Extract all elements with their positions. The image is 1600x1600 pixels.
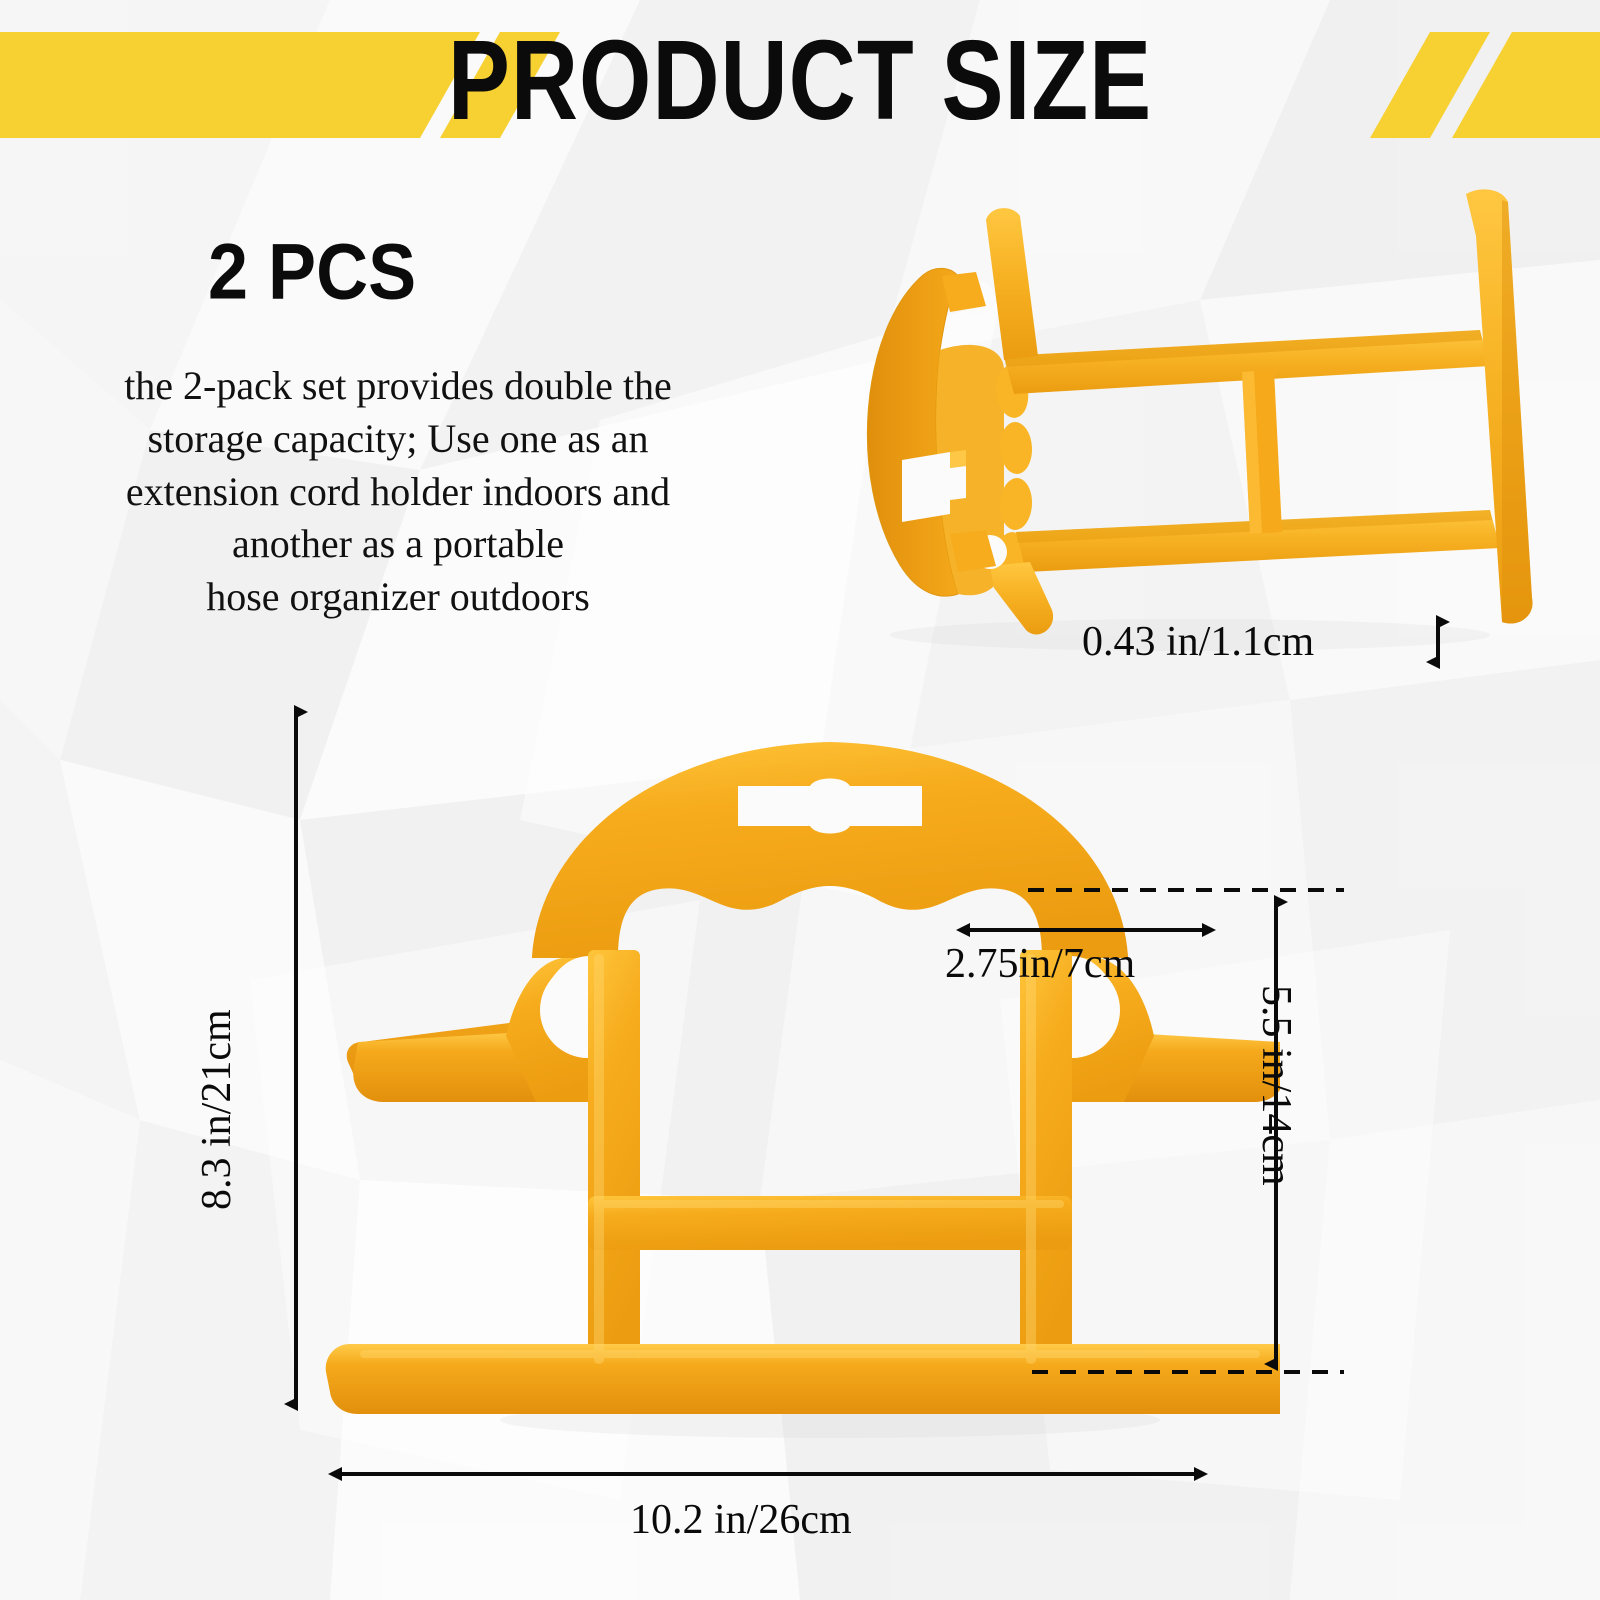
width-dimension-label: 10.2 in/26cm bbox=[630, 1496, 852, 1544]
description-line: extension cord holder indoors and bbox=[48, 466, 748, 519]
thickness-dimension-label: 0.43 in/1.1cm bbox=[1082, 618, 1314, 666]
copy-block: 2 PCS the 2-pack set provides double the… bbox=[48, 236, 748, 624]
edge-view-body bbox=[867, 189, 1532, 634]
right-end-post-shade bbox=[1502, 200, 1533, 624]
description-text: the 2-pack set provides double the stora… bbox=[48, 360, 748, 624]
front-view-body bbox=[326, 742, 1280, 1414]
keyhole-slot-lip bbox=[950, 450, 966, 468]
height-dimension-label: 8.3 in/21cm bbox=[193, 1009, 241, 1210]
product-image-edge-view bbox=[790, 180, 1550, 670]
pcs-heading: 2 PCS bbox=[208, 232, 748, 311]
page-title: PRODUCT SIZE bbox=[0, 0, 1600, 178]
inner-width-dimension-label: 2.75in/7cm bbox=[945, 940, 1135, 988]
description-line: another as a portable bbox=[48, 518, 748, 571]
depth-dimension-label: 5.5 in/14cm bbox=[1252, 985, 1300, 1186]
description-line: the 2-pack set provides double the bbox=[48, 360, 748, 413]
arch-outline bbox=[532, 742, 1128, 958]
keyhole-slot bbox=[738, 779, 922, 834]
product-image-front-view bbox=[300, 690, 1280, 1480]
description-line: storage capacity; Use one as an bbox=[48, 413, 748, 466]
description-line: hose organizer outdoors bbox=[48, 571, 748, 624]
header-banner: PRODUCT SIZE bbox=[0, 0, 1600, 160]
top-left-finger bbox=[986, 208, 1038, 360]
